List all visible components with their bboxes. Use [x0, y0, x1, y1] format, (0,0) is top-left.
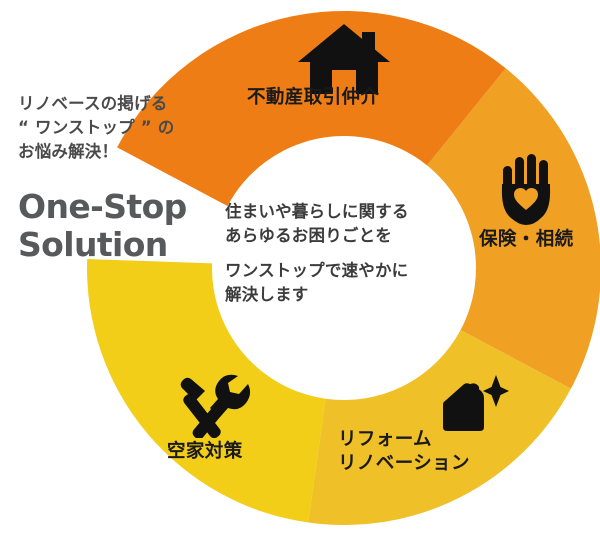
segment-label-renovation: リフォームリノベーション [338, 428, 470, 476]
center-text-block: 住まいや暮らしに関する あらゆるお困りごとを ワンストップで速やかに 解決します [225, 200, 455, 307]
center-paragraph-1: 住まいや暮らしに関する あらゆるお困りごとを [225, 200, 455, 248]
segment-label-insurance: 保険・相続 [479, 228, 574, 252]
infographic-canvas: 不動産取引仲介 保険・相続 リフォームリノベーション [0, 0, 600, 533]
hammer-wrench-icon [176, 372, 254, 442]
segment-label-renovation-line1: リフォーム [338, 429, 432, 450]
segment-label-real-estate: 不動産取引仲介 [247, 86, 379, 110]
page-title: One-Stop Solution [18, 188, 187, 265]
segment-label-renovation-line2: リノベーション [338, 453, 470, 474]
hand-heart-icon [497, 152, 559, 230]
lead-text-block: リノベースの掲げる “ ワンストップ ” の お悩み解決！ [18, 92, 228, 164]
center-paragraph-2: ワンストップで速やかに 解決します [225, 259, 455, 307]
lead-text: リノベースの掲げる “ ワンストップ ” の お悩み解決！ [18, 92, 228, 164]
segment-label-vacant-house: 空家対策 [167, 440, 243, 464]
